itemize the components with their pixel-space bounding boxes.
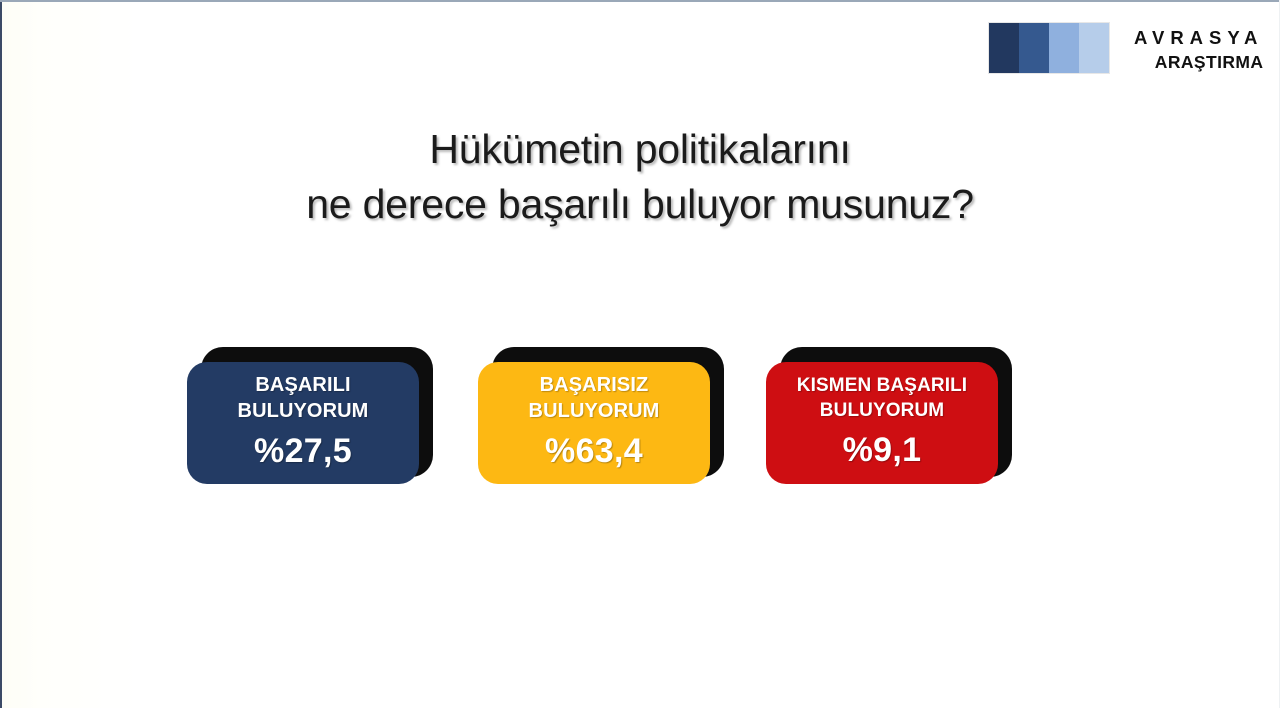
card-label-line-1: KISMEN BAŞARILI xyxy=(797,375,967,396)
card-value: %27,5 xyxy=(254,433,352,470)
card-face: KISMEN BAŞARILI BULUYORUM %9,1 xyxy=(766,362,998,484)
result-card-basarili: BAŞARILI BULUYORUM %27,5 xyxy=(187,352,419,482)
logo-name: AVRASYA xyxy=(1128,26,1263,49)
logo-swatch-4 xyxy=(1079,23,1109,73)
logo-swatch-3 xyxy=(1049,23,1079,73)
card-label: BAŞARISIZ BULUYORUM xyxy=(529,372,660,425)
slide-left-border xyxy=(0,0,2,708)
card-face: BAŞARISIZ BULUYORUM %63,4 xyxy=(478,362,710,484)
card-label-line-1: BAŞARISIZ xyxy=(540,374,649,396)
card-face: BAŞARILI BULUYORUM %27,5 xyxy=(187,362,419,484)
card-label-line-2: BULUYORUM xyxy=(820,400,944,421)
logo-wordmark: AVRASYA ARAŞTIRMA xyxy=(1128,22,1263,74)
page-title: Hükümetin politikalarını ne derece başar… xyxy=(0,122,1280,231)
avrasya-logo: AVRASYA ARAŞTIRMA xyxy=(988,22,1263,74)
logo-subtitle: ARAŞTIRMA xyxy=(1155,52,1264,74)
card-label: BAŞARILI BULUYORUM xyxy=(238,372,369,425)
card-label-line-2: BULUYORUM xyxy=(238,400,369,422)
result-card-basarisiz: BAŞARISIZ BULUYORUM %63,4 xyxy=(478,352,710,482)
slide-top-border xyxy=(0,0,1280,2)
slide-canvas: AVRASYA ARAŞTIRMA Hükümetin politikaları… xyxy=(0,0,1280,708)
result-cards: BAŞARILI BULUYORUM %27,5 BAŞARISIZ BULUY… xyxy=(187,352,1047,492)
card-value: %63,4 xyxy=(545,433,643,470)
page-title-line-2: ne derece başarılı buluyor musunuz? xyxy=(0,177,1280,232)
card-label: KISMEN BAŞARILI BULUYORUM xyxy=(797,373,967,424)
result-card-kismen-basarili: KISMEN BAŞARILI BULUYORUM %9,1 xyxy=(766,352,998,482)
page-title-line-1: Hükümetin politikalarını xyxy=(0,122,1280,177)
logo-swatch-strip xyxy=(988,22,1110,74)
logo-swatch-2 xyxy=(1019,23,1049,73)
card-label-line-1: BAŞARILI xyxy=(255,374,350,396)
card-label-line-2: BULUYORUM xyxy=(529,400,660,422)
card-value: %9,1 xyxy=(843,432,922,469)
logo-swatch-1 xyxy=(989,23,1019,73)
